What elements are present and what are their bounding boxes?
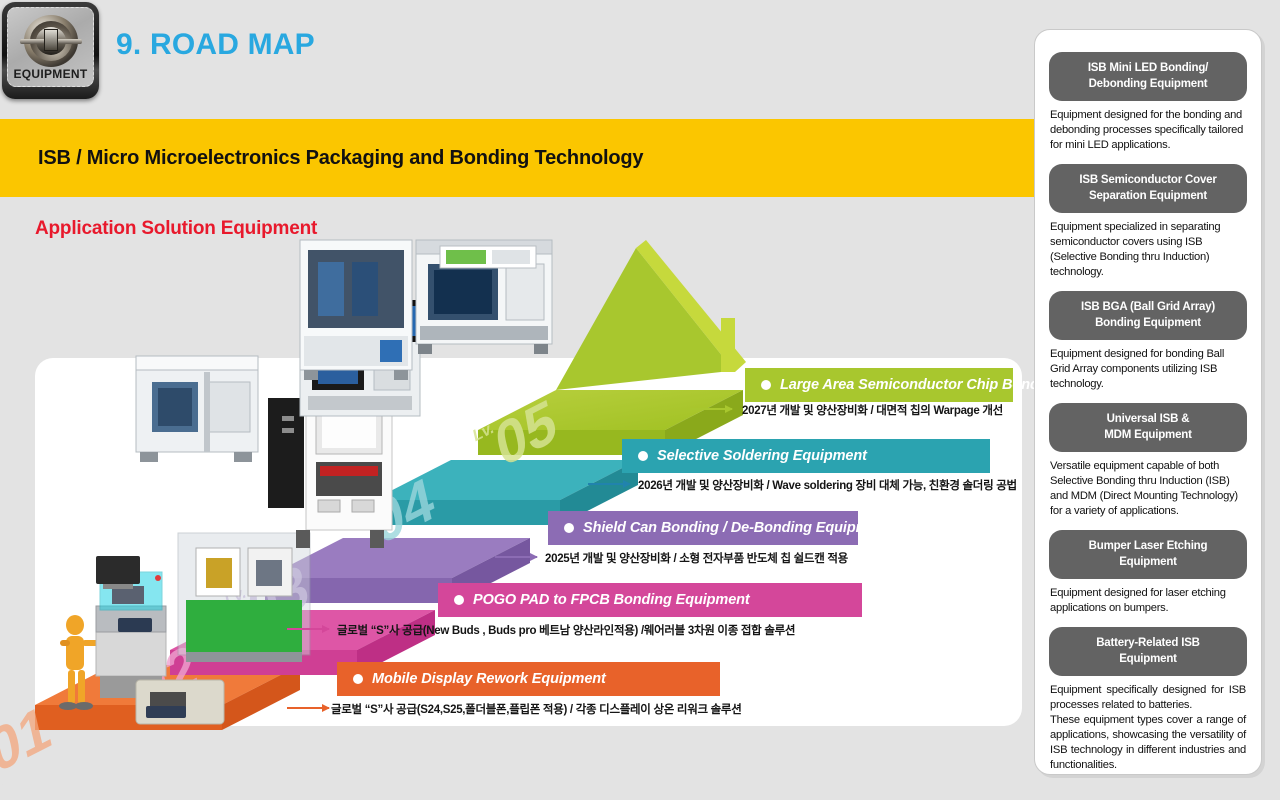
- bullet-dot-icon: [454, 595, 464, 605]
- roadmap-caption-03: 2025년 개발 및 양산장비화 / 소형 전자부품 반도체 칩 쉴드캔 적용: [545, 550, 848, 566]
- sidebar-card-title: Bumper Laser EtchingEquipment: [1049, 530, 1247, 579]
- equipment-info-sidebar: ISB Mini LED Bonding/Debonding Equipment…: [1034, 29, 1262, 775]
- roadmap-arrow-04: [588, 483, 630, 485]
- sidebar-card-desc: Equipment specialized in separating semi…: [1050, 220, 1246, 280]
- roadmap-arrow-05: [690, 408, 732, 410]
- badge-plate: EQUIPMENT: [7, 7, 94, 87]
- sidebar-card-desc: Versatile equipment capable of both Sele…: [1050, 459, 1246, 519]
- gear-emblem-icon: [24, 15, 78, 67]
- roadmap-caption-04: 2026년 개발 및 양산장비화 / Wave soldering 장비 대체 …: [638, 477, 1017, 493]
- bullet-dot-icon: [638, 451, 648, 461]
- sidebar-card-title: Universal ISB &MDM Equipment: [1049, 403, 1247, 452]
- bullet-dot-icon: [353, 674, 363, 684]
- roadmap-arrow-01: [287, 707, 329, 709]
- sidebar-card-desc: Equipment specifically designed for ISB …: [1050, 683, 1246, 773]
- roadmap-ribbon-01: Mobile Display Rework Equipment: [337, 662, 720, 696]
- page-title: 9. ROAD MAP: [116, 28, 315, 62]
- equipment-photo-6: [336, 240, 552, 354]
- sidebar-card-title: ISB Semiconductor CoverSeparation Equipm…: [1049, 164, 1247, 213]
- ribbon-label: POGO PAD to FPCB Bonding Equipment: [473, 592, 750, 608]
- roadmap-ribbon-04: Selective Soldering Equipment: [622, 439, 990, 473]
- sidebar-card-desc: Equipment designed for the bonding and d…: [1050, 108, 1246, 153]
- ribbon-label: Shield Can Bonding / De-Bonding Equipmen…: [583, 520, 890, 536]
- roadmap-caption-01: 글로벌 “S”사 공급(S24,S25,폴더블폰,플립폰 적용) / 각종 디스…: [331, 701, 742, 717]
- roadmap-arrow-03: [495, 556, 537, 558]
- equipment-badge: EQUIPMENT: [2, 2, 99, 99]
- roadmap-ribbon-05: Large Area Semiconductor Chip Bonding Eq…: [745, 368, 1013, 402]
- roadmap-arrow-02: [287, 628, 329, 630]
- roadmap-caption-02: 글로벌 “S”사 공급(New Buds , Buds pro 베트남 양산라인…: [337, 622, 795, 638]
- ribbon-label: Mobile Display Rework Equipment: [372, 671, 606, 687]
- roadmap-ribbon-02: POGO PAD to FPCB Bonding Equipment: [438, 583, 862, 617]
- bullet-dot-icon: [761, 380, 771, 390]
- section-subtitle: Application Solution Equipment: [35, 218, 317, 240]
- ribbon-label: Selective Soldering Equipment: [657, 448, 867, 464]
- sidebar-card-title: Battery-Related ISBEquipment: [1049, 627, 1247, 676]
- badge-label: EQUIPMENT: [8, 67, 93, 81]
- sidebar-card-title: ISB Mini LED Bonding/Debonding Equipment: [1049, 52, 1247, 101]
- sidebar-card-desc: Equipment designed for laser etching app…: [1050, 586, 1246, 616]
- sidebar-card-title: ISB BGA (Ball Grid Array)Bonding Equipme…: [1049, 291, 1247, 340]
- roadmap-caption-05: 2027년 개발 및 양산장비화 / 대면적 칩의 Warpage 개선: [742, 402, 1003, 418]
- slide-page: EQUIPMENT 9. ROAD MAP ISB / Micro Microe…: [0, 0, 1280, 800]
- bullet-dot-icon: [564, 523, 574, 533]
- roadmap-ribbon-03: Shield Can Bonding / De-Bonding Equipmen…: [548, 511, 858, 545]
- section-banner-text: ISB / Micro Microelectronics Packaging a…: [38, 147, 643, 170]
- sidebar-card-desc: Equipment designed for bonding Ball Grid…: [1050, 347, 1246, 392]
